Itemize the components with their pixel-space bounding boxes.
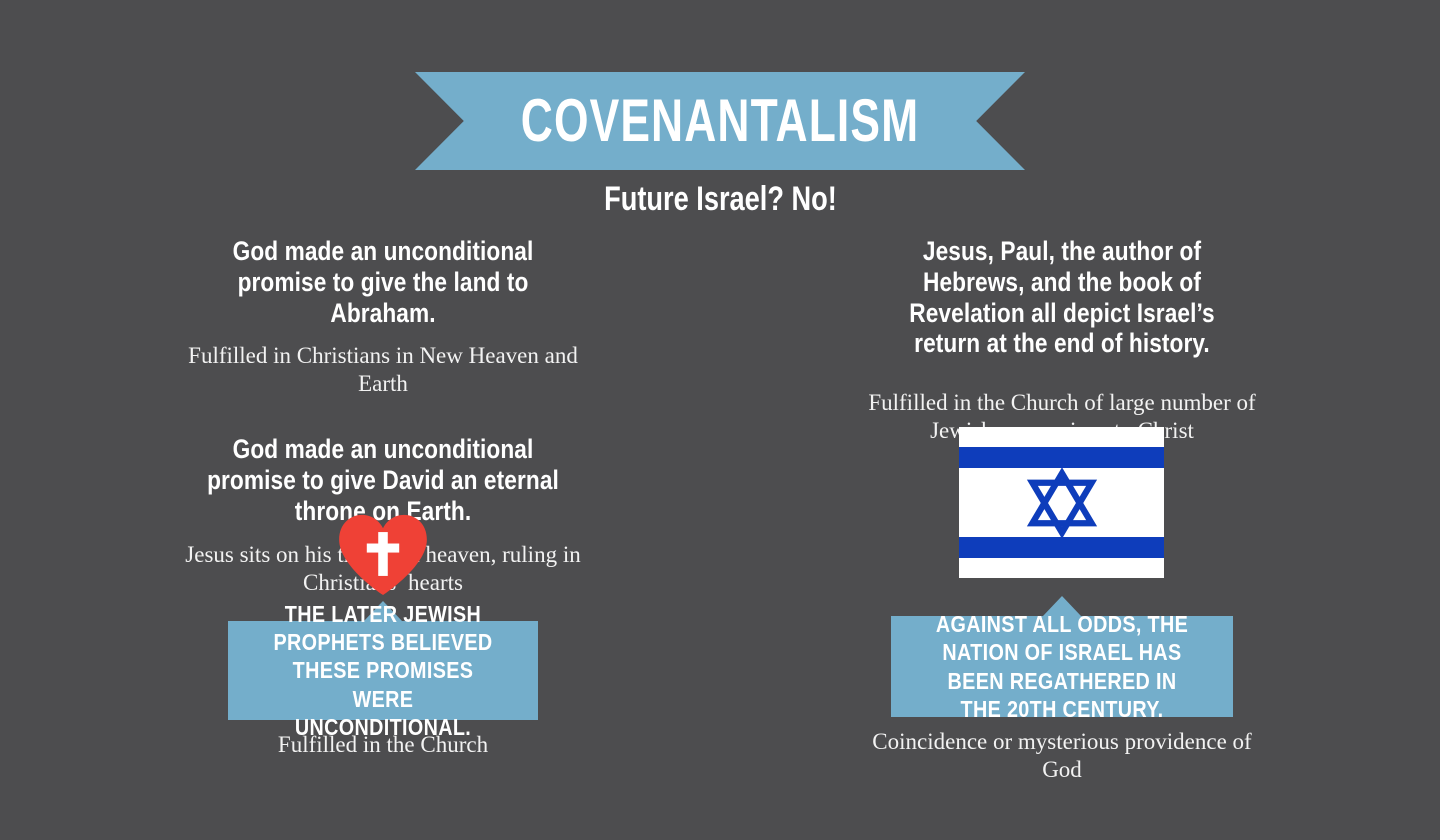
right-headline-1-text: Jesus, Paul, the author of Hebrews, and …: [886, 236, 1239, 359]
spacer: [173, 398, 593, 434]
page-title: COVENANTALISM: [494, 72, 945, 170]
right-bottom-caption: Coincidence or mysterious providence of …: [852, 728, 1272, 784]
subtitle: Future Israel? No!: [0, 182, 1440, 216]
page-title-text: COVENANTALISM: [521, 91, 919, 151]
flag-stripe-top: [959, 447, 1164, 468]
right-column: Jesus, Paul, the author of Hebrews, and …: [852, 236, 1272, 445]
spacer: [852, 359, 1272, 389]
infographic-canvas: COVENANTALISM Future Israel? No! God mad…: [0, 0, 1440, 840]
spacer: [173, 328, 593, 342]
left-bottom-caption: Fulfilled in the Church: [173, 731, 593, 759]
right-callout-text: AGAINST ALL ODDS, THE NATION OF ISRAEL H…: [927, 610, 1197, 722]
left-headline-1-text: God made an unconditional promise to giv…: [207, 236, 560, 328]
right-callout[interactable]: AGAINST ALL ODDS, THE NATION OF ISRAEL H…: [891, 616, 1233, 717]
left-subline-1: Fulfilled in Christians in New Heaven an…: [173, 342, 593, 398]
left-headline-1: God made an unconditional promise to giv…: [173, 236, 593, 328]
israel-flag-icon: [959, 427, 1164, 578]
star-of-david-icon: [1023, 467, 1101, 539]
right-headline-1: Jesus, Paul, the author of Hebrews, and …: [852, 236, 1272, 359]
left-callout[interactable]: THE LATER JEWISH PROPHETS BELIEVED THESE…: [228, 621, 538, 720]
banner: COVENANTALISM: [415, 72, 1025, 170]
heart-with-cross-icon: [333, 513, 433, 595]
flag-stripe-bottom: [959, 537, 1164, 558]
subtitle-text: Future Israel? No!: [604, 182, 837, 216]
left-callout-text: THE LATER JEWISH PROPHETS BELIEVED THESE…: [262, 600, 505, 740]
